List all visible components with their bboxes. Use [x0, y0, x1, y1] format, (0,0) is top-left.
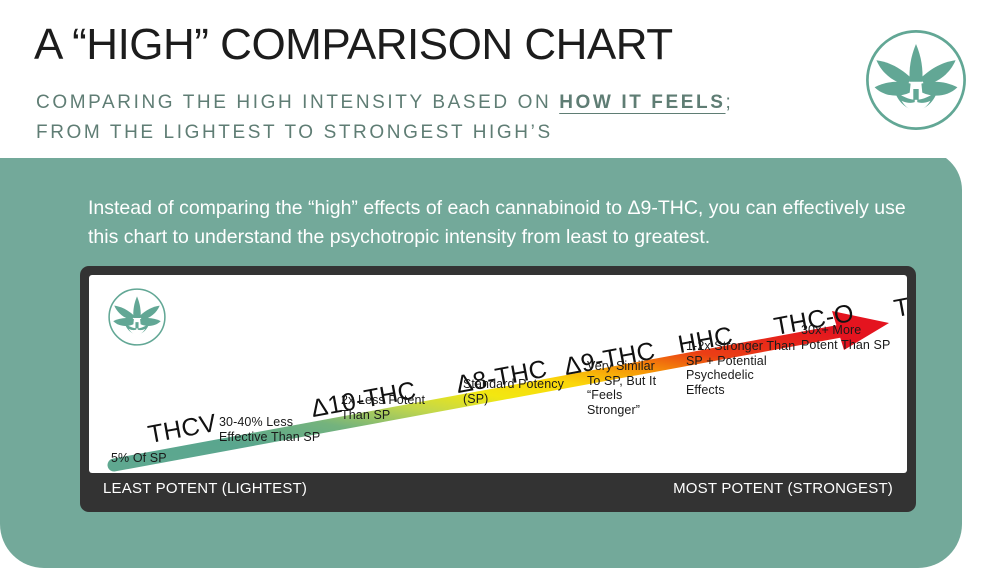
compound-label-thcp: THCP	[892, 283, 907, 324]
scale-label-least-potent: LEAST POTENT (LIGHTEST)	[103, 480, 307, 497]
compound-desc-d9-thc: Standard Potency (SP)	[463, 377, 564, 406]
compound-label-thcv: THCV	[146, 409, 219, 450]
header-band: A “HIGH” COMPARISON CHART COMPARING THE …	[0, 0, 1000, 158]
compound-desc-thc-o: 1-2x Stronger Than SP + Potential Psyche…	[686, 339, 795, 397]
scale-label-most-potent: MOST POTENT (STRONGEST)	[673, 480, 893, 497]
compound-desc-d10-thc: 30-40% Less Effective Than SP	[219, 415, 320, 444]
subtitle-text-part2: ;	[726, 92, 734, 113]
compound-desc-hhc: Very Similar To SP, But It “Feels Strong…	[587, 359, 656, 417]
compound-desc-d8-thc: 2x Less Potent Than SP	[341, 393, 425, 422]
compound-desc-thcv: 5% Of SP	[111, 451, 167, 466]
subtitle-line-2: FROM THE LIGHTEST TO STRONGEST HIGH’S	[36, 118, 836, 148]
header-subtitle: COMPARING THE HIGH INTENSITY BASED ON HO…	[36, 88, 836, 148]
potency-scale-bar: LEAST POTENT (LIGHTEST) MOST POTENT (STR…	[89, 476, 907, 506]
chart-card: THCV Δ10-THC Δ8-THC Δ9-THC HHC THC-O THC…	[80, 266, 916, 512]
chart-plot-area: THCV Δ10-THC Δ8-THC Δ9-THC HHC THC-O THC…	[89, 275, 907, 473]
compound-desc-thcp: 30x+ More Potent Than SP	[801, 323, 890, 352]
cannabis-leaf-logo-icon	[106, 286, 168, 348]
subtitle-emphasis-how-it-feels: HOW IT FEELS	[559, 92, 725, 113]
intro-paragraph: Instead of comparing the “high” effects …	[88, 194, 938, 252]
infographic-root: A “HIGH” COMPARISON CHART COMPARING THE …	[0, 0, 1000, 568]
subtitle-text-part1: COMPARING THE HIGH INTENSITY BASED ON	[36, 92, 559, 113]
page-title: A “HIGH” COMPARISON CHART	[34, 20, 673, 70]
cannabis-leaf-logo-icon	[862, 26, 970, 134]
